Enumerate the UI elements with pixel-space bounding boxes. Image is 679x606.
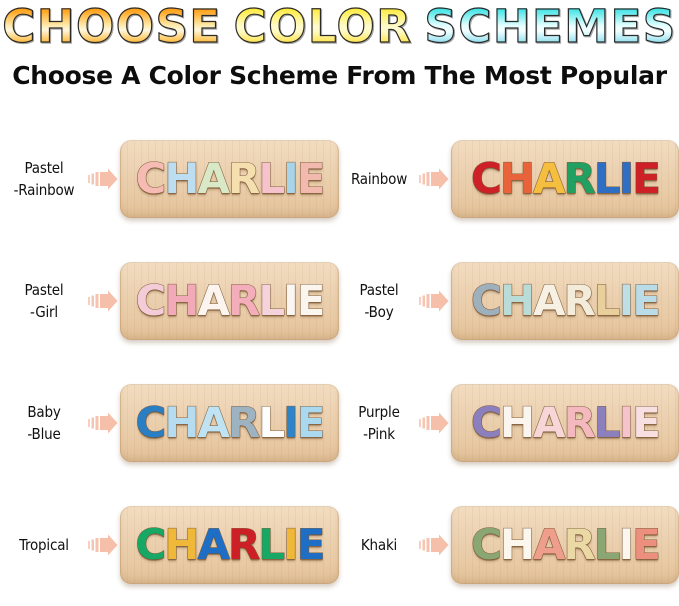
arrow-right-icon [419,168,449,190]
puzzle-letter: C [471,157,500,201]
scheme-label-line1: Purple [358,403,399,421]
scheme-label: Purple-Pink [339,401,419,445]
scheme-label-line1: Tropical [19,536,69,554]
puzzle-letter: R [228,157,258,201]
puzzle-letter: A [533,523,564,567]
puzzle-name: CHARLIE [136,279,324,323]
puzzle-letter: C [136,279,165,323]
arrow-right-icon [88,290,118,312]
puzzle-letter: A [533,157,564,201]
puzzle-letter: E [632,523,659,567]
scheme-option-khaki[interactable]: KhakiCHARLIE [339,484,679,606]
scheme-label: Baby-Blue [0,401,88,445]
puzzle-letter: L [258,279,283,323]
scheme-option-pastel-girl[interactable]: Pastel-GirlCHARLIE [0,240,339,362]
puzzle-letter: L [594,523,619,567]
puzzle-letter: H [500,401,533,445]
scheme-label-line1: Khaki [361,536,397,554]
puzzle-letter: H [164,157,197,201]
puzzle-letter: L [258,523,283,567]
name-puzzle-board[interactable]: CHARLIE [120,506,339,584]
name-puzzle-board[interactable]: CHARLIE [451,262,679,340]
arrow-right-icon [419,290,449,312]
puzzle-letter: E [632,401,659,445]
arrow-right-icon [419,534,449,556]
arrow-right-icon [88,534,118,556]
puzzle-letter: H [500,157,533,201]
puzzle-letter: R [564,401,594,445]
puzzle-letter: A [198,279,229,323]
scheme-option-baby-blue[interactable]: Baby-BlueCHARLIE [0,362,339,484]
puzzle-letter: E [297,401,324,445]
scheme-label: Khaki [339,534,419,556]
puzzle-letter: I [619,401,633,445]
puzzle-name: CHARLIE [471,157,659,201]
puzzle-letter: A [198,157,229,201]
scheme-option-pastel-boy[interactable]: Pastel-BoyCHARLIE [339,240,679,362]
puzzle-name: CHARLIE [471,279,659,323]
scheme-label: Pastel-Girl [0,279,88,323]
color-scheme-chooser-page: CHOOSECOLORSCHEMES Choose A Color Scheme… [0,0,679,606]
page-subtitle: Choose A Color Scheme From The Most Popu… [0,60,679,92]
scheme-option-purple-pink[interactable]: Purple-PinkCHARLIE [339,362,679,484]
puzzle-letter: C [136,401,165,445]
scheme-label: Tropical [0,534,88,556]
puzzle-name: CHARLIE [471,401,659,445]
puzzle-letter: E [297,157,324,201]
name-puzzle-board[interactable]: CHARLIE [451,140,679,218]
puzzle-letter: L [594,401,619,445]
puzzle-letter: L [258,157,283,201]
puzzle-letter: H [164,523,197,567]
scheme-option-rainbow[interactable]: RainbowCHARLIE [339,118,679,240]
puzzle-letter: R [564,523,594,567]
puzzle-letter: L [258,401,283,445]
puzzle-letter: A [533,401,564,445]
arrow-right-icon [419,412,449,434]
puzzle-letter: E [632,279,659,323]
name-puzzle-board[interactable]: CHARLIE [120,140,339,218]
puzzle-letter: I [619,157,633,201]
puzzle-letter: A [198,401,229,445]
puzzle-name: CHARLIE [136,157,324,201]
puzzle-name: CHARLIE [136,523,324,567]
puzzle-name: CHARLIE [471,523,659,567]
puzzle-letter: I [283,279,297,323]
title-word-choose: CHOOSE [2,2,221,52]
scheme-label-line2: -Boy [339,301,419,323]
scheme-label-line1: Pastel [25,159,64,177]
puzzle-letter: E [632,157,659,201]
scheme-label-line2: -Blue [0,423,88,445]
puzzle-letter: R [564,157,594,201]
arrow-right-icon [88,168,118,190]
puzzle-letter: R [228,401,258,445]
puzzle-letter: L [594,279,619,323]
scheme-option-tropical[interactable]: TropicalCHARLIE [0,484,339,606]
puzzle-letter: C [471,523,500,567]
puzzle-letter: C [136,157,165,201]
scheme-label-line1: Baby [27,403,60,421]
puzzle-letter: I [619,279,633,323]
puzzle-letter: H [164,401,197,445]
puzzle-name: CHARLIE [136,401,324,445]
puzzle-letter: H [500,279,533,323]
scheme-label-line2: -Rainbow [0,179,88,201]
title-word-color: COLOR [234,2,413,52]
puzzle-letter: R [228,523,258,567]
page-title: CHOOSECOLORSCHEMES [0,2,679,54]
name-puzzle-board[interactable]: CHARLIE [120,384,339,462]
puzzle-letter: E [297,523,324,567]
scheme-label: Pastel-Rainbow [0,157,88,201]
puzzle-letter: H [500,523,533,567]
puzzle-letter: R [228,279,258,323]
puzzle-letter: R [564,279,594,323]
puzzle-letter: H [164,279,197,323]
puzzle-letter: C [136,523,165,567]
puzzle-letter: I [619,523,633,567]
scheme-label-line1: Rainbow [351,170,407,188]
puzzle-letter: I [283,401,297,445]
name-puzzle-board[interactable]: CHARLIE [451,506,679,584]
scheme-label-line1: Pastel [25,281,64,299]
title-word-schemes: SCHEMES [424,2,676,52]
scheme-label: Pastel-Boy [339,279,419,323]
puzzle-letter: A [198,523,229,567]
arrow-right-icon [88,412,118,434]
puzzle-letter: A [533,279,564,323]
puzzle-letter: C [471,279,500,323]
puzzle-letter: I [283,523,297,567]
scheme-grid: Pastel-RainbowCHARLIERainbowCHARLIEPaste… [0,118,679,606]
puzzle-letter: L [594,157,619,201]
name-puzzle-board[interactable]: CHARLIE [451,384,679,462]
puzzle-letter: C [471,401,500,445]
puzzle-letter: I [283,157,297,201]
scheme-label-line2: -Pink [339,423,419,445]
scheme-label-line2: -Girl [0,301,88,323]
name-puzzle-board[interactable]: CHARLIE [120,262,339,340]
scheme-label-line1: Pastel [360,281,399,299]
scheme-option-pastel-rainbow[interactable]: Pastel-RainbowCHARLIE [0,118,339,240]
scheme-label: Rainbow [339,168,419,190]
puzzle-letter: E [297,279,324,323]
